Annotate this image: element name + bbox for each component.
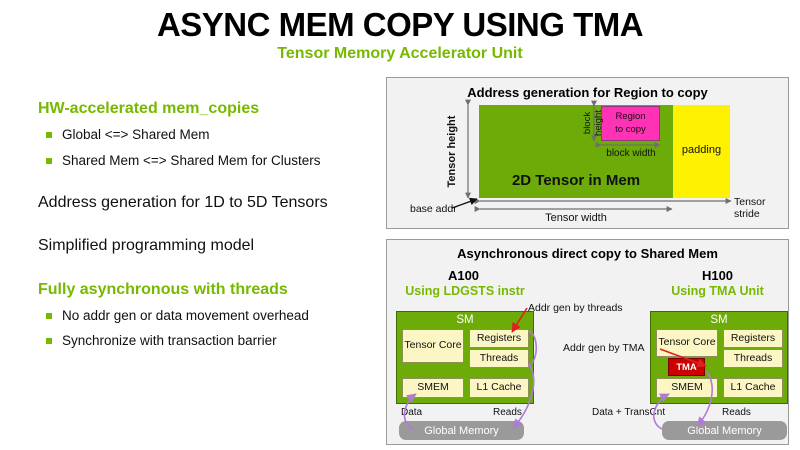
spacer (38, 178, 378, 194)
tensor-stride-line2: stride (734, 208, 760, 220)
panel-bottom-title: Asynchronous direct copy to Shared Mem (387, 246, 788, 261)
square-bullet-icon (46, 338, 52, 344)
block-height-label: block height (583, 105, 609, 141)
tma-block-h100: TMA (668, 358, 705, 376)
list-item: Global <=> Shared Mem (62, 127, 378, 143)
square-bullet-icon (46, 158, 52, 164)
l1-cache-block-a100: L1 Cache (469, 378, 529, 398)
list-item-label: No addr gen or data movement overhead (62, 308, 309, 323)
tensor-width-label: Tensor width (479, 212, 673, 224)
list-item: Shared Mem <=> Shared Mem for Clusters (62, 153, 378, 169)
spacer (38, 221, 378, 237)
reads-label-a100: Reads (493, 407, 522, 418)
slide-canvas: ASYNC MEM COPY USING TMA Tensor Memory A… (0, 0, 800, 450)
smem-block-a100: SMEM (402, 378, 464, 398)
square-bullet-icon (46, 132, 52, 138)
block-height-line1: block (582, 112, 593, 134)
list-item-label: Synchronize with transaction barrier (62, 333, 277, 348)
sm-label-a100: SM (397, 314, 533, 326)
tensor-core-block-a100: Tensor Core (402, 329, 464, 363)
page-subtitle: Tensor Memory Accelerator Unit (0, 45, 800, 63)
tensor-core-block-h100: Tensor Core (656, 329, 718, 357)
tensor-stride-line1: Tensor (734, 196, 766, 208)
bullet-list: HW-accelerated mem_copies Global <=> Sha… (38, 100, 378, 358)
callout-addr-gen-by-threads: Addr gen by threads (528, 302, 623, 314)
tensor-block-label: 2D Tensor in Mem (479, 172, 673, 189)
tensor-stride-label: Tensor stride (734, 196, 788, 220)
reads-label-h100: Reads (722, 407, 751, 418)
square-bullet-icon (46, 313, 52, 319)
list-item-label: Shared Mem <=> Shared Mem for Clusters (62, 153, 320, 168)
bullet-heading-fully-async: Fully asynchronous with threads (38, 281, 378, 299)
registers-block-a100: Registers (469, 329, 529, 348)
sm-label-h100: SM (651, 314, 787, 326)
panel-top-title: Address generation for Region to copy (387, 85, 788, 100)
list-item: Synchronize with transaction barrier (62, 333, 378, 349)
region-to-copy-block: Region to copy (601, 106, 660, 141)
data-label-a100: Data (401, 407, 422, 418)
threads-block-a100: Threads (469, 349, 529, 368)
tensor-height-label: Tensor height (446, 105, 460, 198)
gpu-method-h100: Using TMA Unit (645, 284, 790, 298)
block-height-line2: height (593, 110, 604, 136)
threads-block-h100: Threads (723, 349, 783, 368)
spacer (38, 265, 378, 281)
gpu-name-a100: A100 (396, 268, 531, 283)
bullet-heading-simplified: Simplified programming model (38, 237, 378, 255)
global-memory-a100: Global Memory (399, 421, 524, 440)
gpu-name-h100: H100 (650, 268, 785, 283)
data-transcnt-label-h100: Data + TransCnt (592, 407, 665, 418)
base-addr-label: base addr (410, 203, 457, 215)
list-item: No addr gen or data movement overhead (62, 308, 378, 324)
page-title: ASYNC MEM COPY USING TMA (0, 8, 800, 43)
padding-block-label: padding (673, 144, 730, 156)
region-label-line2: to copy (602, 124, 659, 136)
gpu-method-a100: Using LDGSTS instr (390, 284, 540, 298)
registers-block-h100: Registers (723, 329, 783, 348)
block-width-label: block width (598, 148, 664, 159)
bullet-heading-hw-accel: HW-accelerated mem_copies (38, 100, 378, 118)
smem-block-h100: SMEM (656, 378, 718, 398)
l1-cache-block-h100: L1 Cache (723, 378, 783, 398)
bullet-heading-addr-gen: Address generation for 1D to 5D Tensors (38, 194, 378, 212)
global-memory-h100: Global Memory (662, 421, 787, 440)
region-label-line1: Region (602, 111, 659, 123)
callout-addr-gen-by-tma: Addr gen by TMA (563, 342, 645, 354)
list-item-label: Global <=> Shared Mem (62, 127, 209, 142)
